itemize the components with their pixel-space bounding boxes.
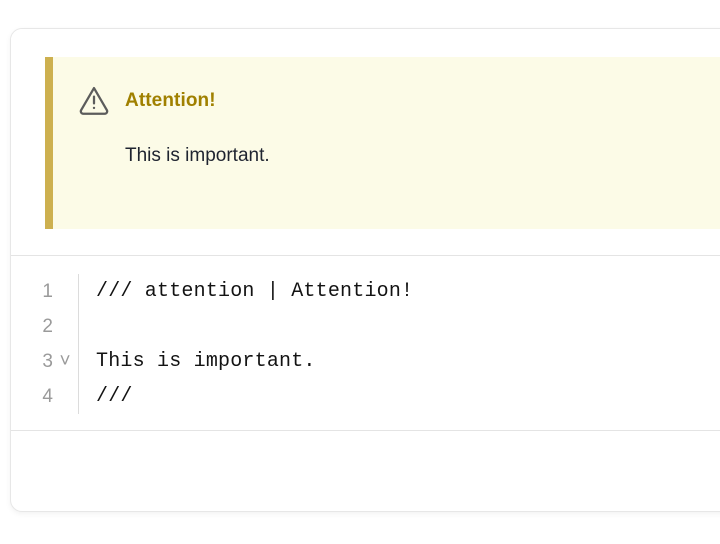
gutter-row: 3 ˅ <box>11 344 78 379</box>
gutter-row: 2 <box>11 309 78 344</box>
line-number: 3 <box>39 344 53 379</box>
chevron-down-icon[interactable]: ˅ <box>58 355 72 369</box>
code-line[interactable]: This is important. <box>96 344 720 379</box>
fold-spacer <box>58 285 72 299</box>
fold-spacer <box>58 320 72 334</box>
line-number: 1 <box>39 274 53 309</box>
preview-pane: Attention! This is important. <box>11 29 720 255</box>
fold-spacer <box>58 390 72 404</box>
line-number: 4 <box>39 379 53 414</box>
example-card: Attention! This is important. 1 2 3 <box>10 28 720 512</box>
attention-callout: Attention! This is important. <box>45 57 720 229</box>
callout-body-text: This is important. <box>125 143 720 169</box>
editor-gutter: 1 2 3 ˅ 4 <box>11 274 79 414</box>
gutter-row: 1 <box>11 274 78 309</box>
code-line[interactable] <box>96 309 720 344</box>
screen: Attention! This is important. 1 2 3 <box>0 0 720 544</box>
code-line[interactable]: /// <box>96 379 720 414</box>
line-number: 2 <box>39 309 53 344</box>
code-content[interactable]: /// attention | Attention! This is impor… <box>79 274 720 414</box>
callout-title: Attention! <box>125 91 216 110</box>
callout-header: Attention! <box>77 83 720 117</box>
warning-triangle-icon <box>77 83 111 117</box>
code-editor[interactable]: 1 2 3 ˅ 4 /// attention | Attention! <box>11 256 720 430</box>
code-line[interactable]: /// attention | Attention! <box>96 274 720 309</box>
gutter-row: 4 <box>11 379 78 414</box>
card-footer <box>11 431 720 485</box>
